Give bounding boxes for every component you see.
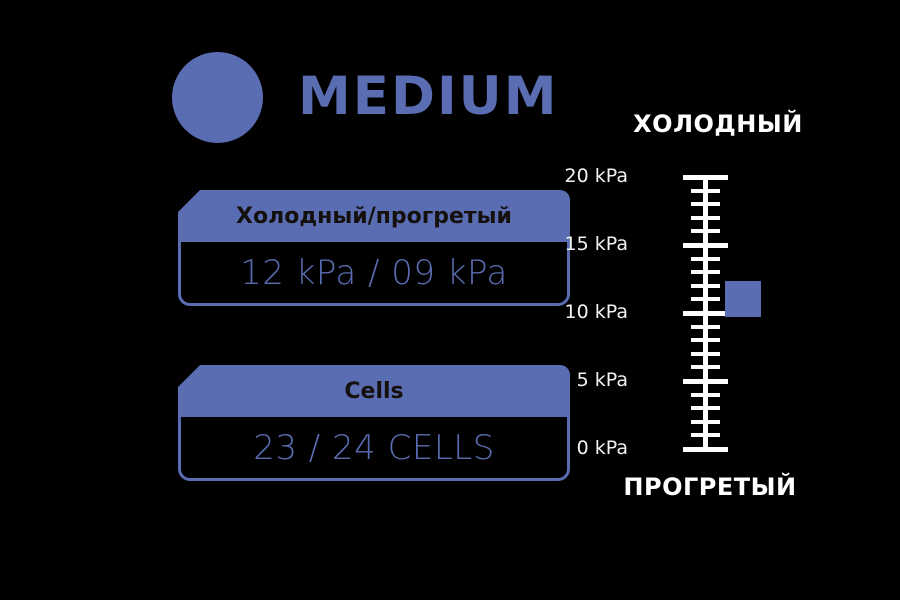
gauge-tick-label: 0 kPa [508, 437, 628, 459]
pressure-gauge: ХОЛОДНЫЙ 20 kPa15 kPa10 kPa5 kPa0 kPa ПР… [560, 105, 860, 505]
gauge-tick-label: 5 kPa [508, 369, 628, 391]
status-title: MEDIUM [298, 70, 558, 123]
gauge-tick-major [683, 379, 728, 384]
gauge-tick-minor [691, 420, 720, 424]
gauge-tick-minor [691, 229, 720, 233]
gauge-tick-minor [691, 216, 720, 220]
status-indicator-circle-icon [172, 52, 263, 143]
gauge-tick-minor [691, 433, 720, 437]
card-cells-value: 23 / 24 CELLS [253, 428, 495, 468]
gauge-value-marker [725, 281, 761, 317]
card-pressure-value: 12 kPa / 09 kPa [240, 253, 508, 293]
gauge-tick-label: 15 kPa [508, 233, 628, 255]
gauge-scale: 20 kPa15 kPa10 kPa5 kPa0 kPa [560, 177, 860, 449]
gauge-tick-minor [691, 270, 720, 274]
gauge-tick-minor [691, 284, 720, 288]
gauge-top-label: ХОЛОДНЫЙ [608, 110, 828, 138]
gauge-tick-label: 20 kPa [508, 165, 628, 187]
gauge-tick-minor [691, 325, 720, 329]
hud-panel: MEDIUM Холодный/прогретый 12 kPa / 09 kP… [0, 0, 900, 600]
gauge-tick-major [683, 175, 728, 180]
gauge-tick-major [683, 243, 728, 248]
gauge-tick-minor [691, 202, 720, 206]
gauge-tick-minor [691, 297, 720, 301]
gauge-bottom-label: ПРОГРЕТЫЙ [600, 473, 820, 501]
gauge-tick-minor [691, 393, 720, 397]
gauge-tick-minor [691, 338, 720, 342]
card-pressure-header-label: Холодный/прогретый [236, 204, 512, 229]
gauge-tick-major [683, 447, 728, 452]
gauge-tick-minor [691, 352, 720, 356]
gauge-tick-major [683, 311, 728, 316]
gauge-tick-label: 10 kPa [508, 301, 628, 323]
gauge-tick-minor [691, 189, 720, 193]
gauge-tick-minor [691, 406, 720, 410]
gauge-tick-minor [691, 365, 720, 369]
gauge-tick-minor [691, 257, 720, 261]
card-cells-header-label: Cells [344, 379, 403, 404]
